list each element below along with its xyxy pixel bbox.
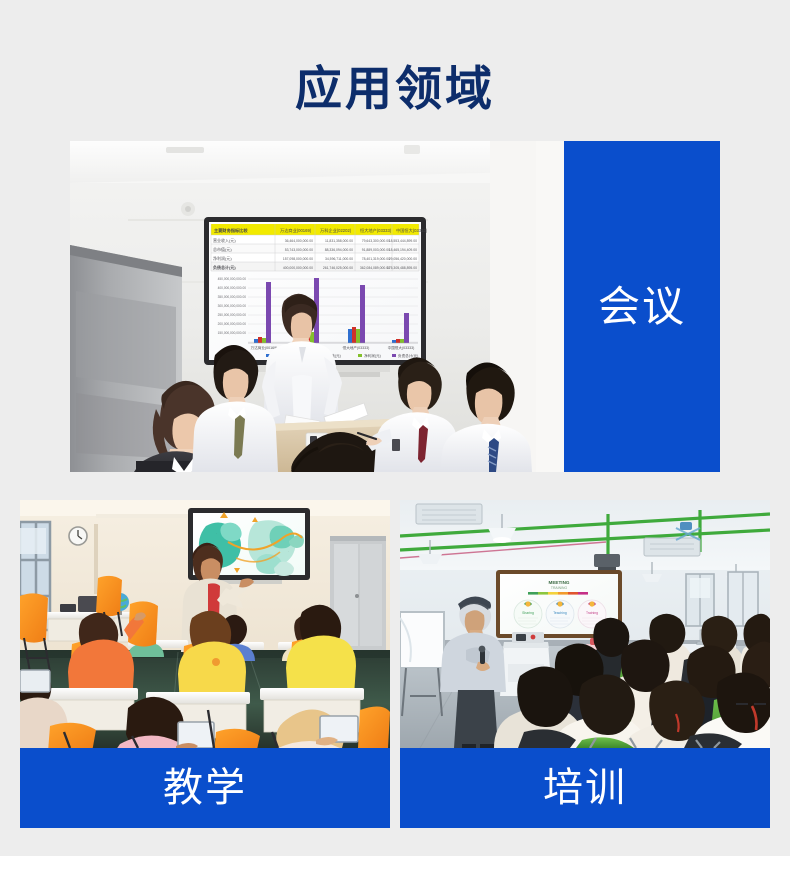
svg-text:91,889,003,000.00: 91,889,003,000.00 <box>362 248 390 252</box>
svg-text:万达商业(00169): 万达商业(00169) <box>280 227 312 234</box>
svg-text:157,098,000,000.00: 157,098,000,000.00 <box>283 257 313 261</box>
svg-text:400,000,000,000.00: 400,000,000,000.00 <box>218 286 247 290</box>
page-title: 应用领域 <box>0 58 790 120</box>
meeting-label-text: 会议 <box>598 286 686 328</box>
svg-text:261,746,025,000.00: 261,746,025,000.00 <box>323 266 353 270</box>
svg-text:中国恒大(03333): 中国恒大(03333) <box>396 227 428 234</box>
svg-text:150,000,000,000.00: 150,000,000,000.00 <box>218 331 247 335</box>
svg-text:78,401,319,000.00: 78,401,319,000.00 <box>362 257 390 261</box>
training-card: MEETING TRAINING <box>400 500 770 828</box>
svg-text:·: · <box>216 532 217 535</box>
svg-text:29,056,420,000.00: 29,056,420,000.00 <box>389 257 417 261</box>
svg-text:53,743,000,000.00: 53,743,000,000.00 <box>285 248 313 252</box>
svg-text:250,000,000,000.00: 250,000,000,000.00 <box>218 313 247 317</box>
svg-text:负债总计(元): 负债总计(元) <box>213 264 236 270</box>
svg-text:·: · <box>270 538 271 541</box>
svg-text:11,831,358,000.00: 11,831,358,000.00 <box>325 239 353 243</box>
meeting-section: 主要财务指标比较 万达商业(00169) 万科企业(02202) 恒大地产(03… <box>70 141 720 472</box>
teaching-card: ··· <box>20 500 390 828</box>
svg-text:恒大地产(03333): 恒大地产(03333) <box>343 345 370 350</box>
svg-text:300,000,000,000.00: 300,000,000,000.00 <box>218 304 247 308</box>
meeting-room-illustration: 主要财务指标比较 万达商业(00169) 万科企业(02202) 恒大地产(03… <box>70 141 564 472</box>
svg-text:18,465,194,409.00: 18,465,194,409.00 <box>389 248 417 252</box>
svg-text:主要财务指标比较: 主要财务指标比较 <box>214 227 248 234</box>
svg-text:200,000,000,000.00: 200,000,000,000.00 <box>218 322 247 326</box>
svg-text:450,000,000,000.00: 450,000,000,000.00 <box>218 277 247 281</box>
svg-text:88,336,094,000.00: 88,336,094,000.00 <box>325 248 353 252</box>
svg-text:净利润(元): 净利润(元) <box>364 353 381 358</box>
svg-text:MEETING: MEETING <box>549 580 570 585</box>
classroom-photo: ··· <box>20 500 390 748</box>
svg-text:36,464,000,000.00: 36,464,000,000.00 <box>285 239 313 243</box>
svg-text:总市值(元): 总市值(元) <box>213 246 232 252</box>
svg-text:营业收入(元): 营业收入(元) <box>213 237 236 243</box>
meeting-label-panel: 会议 <box>564 141 720 472</box>
svg-text:18,553,444,899.00: 18,553,444,899.00 <box>389 239 417 243</box>
svg-text:362,084,089,000.00: 362,084,089,000.00 <box>360 266 390 270</box>
training-room-photo: MEETING TRAINING <box>400 500 770 748</box>
svg-text:Sharing: Sharing <box>522 611 534 615</box>
svg-text:负债总计(元): 负债总计(元) <box>398 353 418 358</box>
application-page: 应用领域 <box>0 0 790 886</box>
svg-text:400,000,000,000.00: 400,000,000,000.00 <box>283 266 313 270</box>
svg-text:净利润(元): 净利润(元) <box>213 255 232 261</box>
training-label-text: 培训 <box>543 768 627 808</box>
svg-text:万达商业(00169): 万达商业(00169) <box>251 345 278 350</box>
teaching-label-text: 教学 <box>163 768 247 808</box>
svg-text:万科企业(02202): 万科企业(02202) <box>320 227 352 234</box>
svg-text:350,000,000,000.00: 350,000,000,000.00 <box>218 295 247 299</box>
svg-text:Training: Training <box>586 611 598 615</box>
training-label-bar: 培训 <box>400 748 770 828</box>
teaching-label-bar: 教学 <box>20 748 390 828</box>
svg-text:Teaching: Teaching <box>553 611 567 615</box>
svg-text:·: · <box>288 550 289 553</box>
svg-text:79,643,300,000.00: 79,643,300,000.00 <box>362 239 390 243</box>
meeting-room-photo: 主要财务指标比较 万达商业(00169) 万科企业(02202) 恒大地产(03… <box>70 141 564 472</box>
svg-text:TRAINING: TRAINING <box>551 586 568 590</box>
svg-text:175,305,488,895.00: 175,305,488,895.00 <box>387 266 417 270</box>
training-room-illustration: MEETING TRAINING <box>400 500 770 748</box>
application-cards-row: ··· <box>20 500 770 828</box>
svg-text:中国恒大(03333): 中国恒大(03333) <box>388 345 415 350</box>
svg-text:恒大地产(03333): 恒大地产(03333) <box>360 227 392 234</box>
classroom-illustration: ··· <box>20 500 390 748</box>
svg-text:34,596,711,000.00: 34,596,711,000.00 <box>325 257 353 261</box>
